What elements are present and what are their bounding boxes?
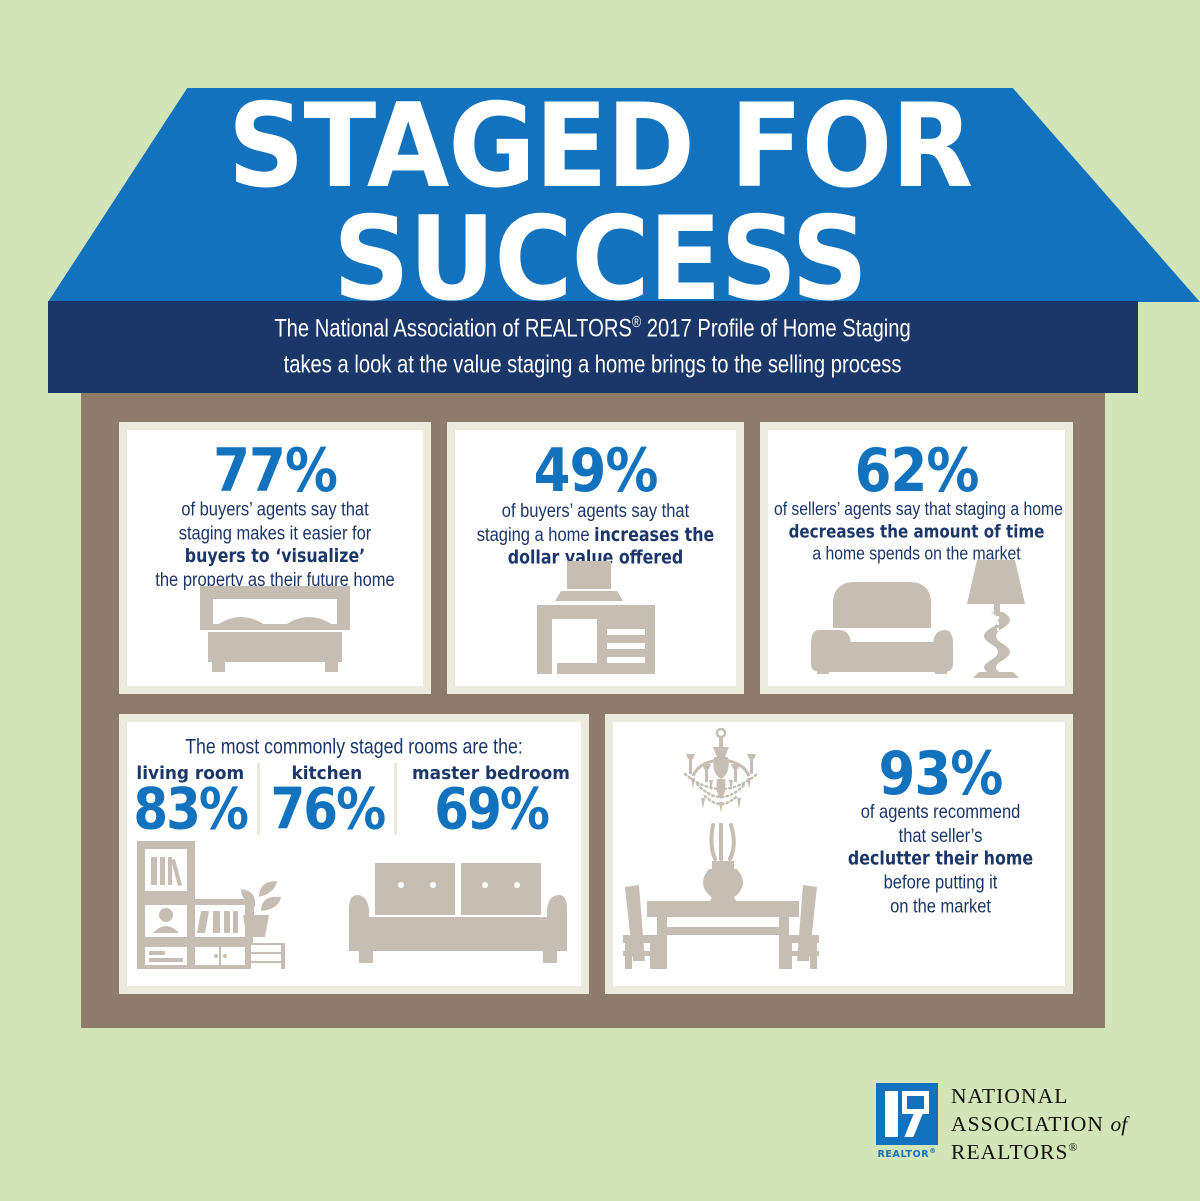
declutter-layout: 93% of agents recommend that seller’s de…: [613, 722, 1065, 986]
room-percent: 76%: [270, 780, 384, 838]
subtitle-text: The National Association of REALTORS® 20…: [275, 310, 911, 383]
logo-line-3-text: REALTORS: [951, 1140, 1069, 1164]
logo-line-2-italic: of: [1111, 1112, 1128, 1136]
declutter-text-block: 93% of agents recommend that seller’s de…: [830, 722, 1065, 986]
nar-wordmark: NATIONAL ASSOCIATION of REALTORS®: [951, 1083, 1127, 1167]
infographic-root: STAGED FOR SUCCESS The National Associat…: [0, 0, 1200, 1201]
line-2: decreases the amount of time: [774, 521, 1059, 543]
realtor-word-text: REALTOR: [878, 1149, 930, 1160]
line-3-bold: declutter their home: [848, 848, 1033, 870]
stat-card-visualize: 77% of buyers’ agents say that staging m…: [119, 422, 431, 694]
line-3: declutter their home: [834, 847, 1046, 871]
line-2-bold: decreases the amount of time: [789, 520, 1045, 542]
subtitle-line-1-b: 2017 Profile of Home Staging: [642, 314, 912, 342]
line-3: buyers to ‘visualize’: [133, 544, 417, 568]
room-percent: 83%: [133, 780, 248, 838]
room-kitchen: kitchen 76%: [257, 763, 394, 835]
subtitle-line-1-a: The National Association of REALTORS: [275, 314, 633, 342]
staged-rooms-heading: The most commonly staged rooms are the:: [136, 722, 572, 759]
chandelier-icon: [661, 728, 781, 833]
stat-card-dollar-value: 49% of buyers’ agents say that staging a…: [447, 422, 744, 694]
logo-line-1: NATIONAL: [951, 1083, 1127, 1111]
line-4: before putting it: [834, 871, 1046, 895]
stat-card-staged-rooms: The most commonly staged rooms are the: …: [119, 714, 589, 994]
line-1: of agents recommend: [834, 800, 1046, 824]
line-2: staging makes it easier for: [133, 521, 417, 545]
line-1: of buyers’ agents say that: [461, 499, 731, 523]
house-body: 77% of buyers’ agents say that staging m…: [81, 393, 1105, 1028]
stat-text-visualize: of buyers’ agents say that staging makes…: [133, 497, 417, 591]
logo-line-3-registered: ®: [1069, 1140, 1079, 1154]
subtitle-line-2: takes a look at the value staging a home…: [275, 347, 911, 383]
room-living-room: living room 83%: [127, 763, 257, 835]
card-inner: 93% of agents recommend that seller’s de…: [613, 722, 1065, 986]
card-inner: 77% of buyers’ agents say that staging m…: [127, 430, 423, 686]
card-inner: 62% of sellers’ agents say that staging …: [768, 430, 1065, 686]
realtor-r-icon: [876, 1083, 938, 1145]
logo-line-2: ASSOCIATION of: [951, 1111, 1127, 1139]
title-line-1: STAGED FOR: [0, 90, 1200, 204]
declutter-icons: [613, 722, 830, 986]
line-2-a: staging a home: [477, 522, 594, 545]
stat-text-time-on-market: of sellers’ agents say that staging a ho…: [774, 499, 1059, 566]
line-1: of buyers’ agents say that: [133, 497, 417, 521]
line-1: of sellers’ agents say that staging a ho…: [774, 499, 1059, 521]
realtor-word-registered: ®: [929, 1147, 936, 1155]
line-3-bold: buyers to ‘visualize’: [185, 545, 365, 567]
logo-line-3: REALTORS®: [951, 1139, 1127, 1167]
page-title: STAGED FOR SUCCESS: [0, 90, 1200, 317]
stat-card-declutter: 93% of agents recommend that seller’s de…: [605, 714, 1073, 994]
staged-rooms-list: living room 83% kitchen 76% master bedro…: [127, 763, 581, 835]
card-inner: 49% of buyers’ agents say that staging a…: [455, 430, 736, 686]
roof: STAGED FOR SUCCESS: [0, 88, 1200, 302]
realtor-wordmark: REALTOR®: [876, 1147, 938, 1160]
stat-percent-93: 93%: [830, 745, 1051, 804]
stat-percent-62: 62%: [768, 430, 1065, 501]
sofa-icon: [349, 861, 567, 976]
nar-logo: REALTOR® NATIONAL ASSOCIATION of REALTOR…: [876, 1083, 1127, 1167]
card-inner: The most commonly staged rooms are the: …: [127, 722, 581, 986]
room-master-bedroom: master bedroom 69%: [394, 763, 581, 835]
dining-table-icon: [617, 823, 825, 978]
line-5: on the market: [834, 894, 1046, 918]
stat-percent-49: 49%: [455, 430, 736, 501]
stat-percent-77: 77%: [127, 430, 423, 501]
subtitle-line-1: The National Association of REALTORS® 20…: [275, 310, 911, 347]
desk-icon: [455, 559, 736, 674]
room-percent: 69%: [407, 780, 575, 838]
line-2-bold: increases the: [594, 523, 714, 545]
subtitle-banner: The National Association of REALTORS® 20…: [48, 301, 1138, 393]
armchair-lamp-icon: [768, 560, 1065, 678]
line-2: staging a home increases the: [461, 522, 731, 546]
realtor-mark-wrap: REALTOR®: [876, 1083, 938, 1145]
stat-text-declutter: of agents recommend that seller’s declut…: [834, 800, 1046, 918]
bookshelf-icon: [137, 841, 285, 974]
bed-icon: [127, 580, 423, 672]
stat-card-time-on-market: 62% of sellers’ agents say that staging …: [760, 422, 1073, 694]
line-2: that seller’s: [834, 823, 1046, 847]
logo-line-2-a: ASSOCIATION: [951, 1112, 1111, 1136]
